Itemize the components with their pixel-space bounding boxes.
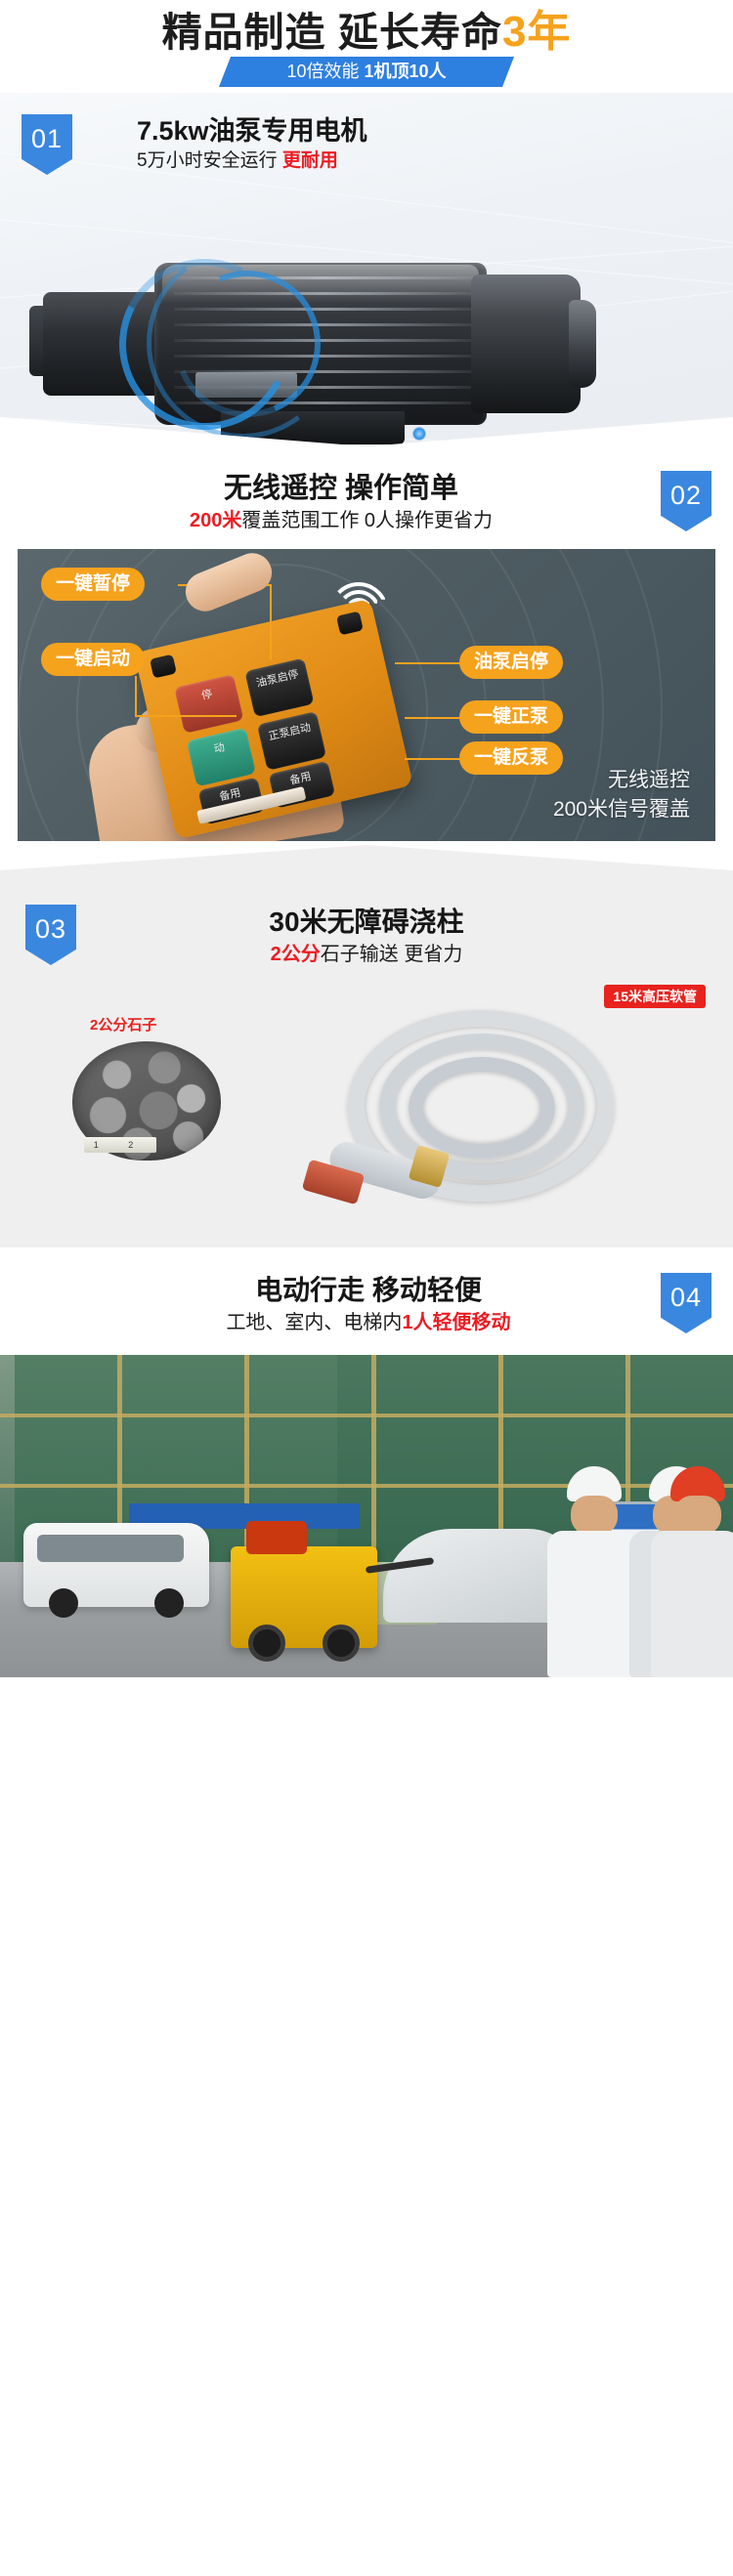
gravel-ruler: 1 2 xyxy=(84,1137,156,1153)
product-detail-page: 精品制造 延长寿命3年 10倍效能 1机顶10人 01 7.5kw油泵专用电机 … xyxy=(0,0,733,1677)
construction-site-photo xyxy=(0,1355,733,1677)
machine-hopper xyxy=(246,1521,307,1554)
section-04-header: 电动行走 移动轻便 工地、室内、电梯内1人轻便移动 04 xyxy=(0,1273,733,1337)
section-03-badge: 03 xyxy=(25,905,76,965)
white-van xyxy=(23,1523,209,1607)
remote-button-forward[interactable]: 正泵启动 xyxy=(257,711,326,771)
section-02-subtitle-plain: 覆盖范围工作 0人操作更省力 xyxy=(241,510,493,531)
section-03-text: 30米无障碍浇柱 2公分石子输送 更省力 xyxy=(76,905,657,969)
section-04-subtitle-plain: 工地、室内、电梯内 xyxy=(226,1312,402,1333)
section-02-header: 无线遥控 操作简单 200米覆盖范围工作 0人操作更省力 02 xyxy=(0,471,733,535)
callout-reverse-pump: 一键反泵 xyxy=(459,741,563,775)
section-01-badge: 01 xyxy=(22,114,72,175)
concrete-pump-machine xyxy=(231,1546,377,1648)
leader-line-start-h xyxy=(135,715,237,717)
remote-screw-left xyxy=(150,655,177,679)
callout-forward-pump: 一键正泵 xyxy=(459,700,563,734)
divider-notch-up xyxy=(0,841,733,870)
section-02-subtitle-highlight: 200米 xyxy=(190,510,241,531)
section-04-mobility: 电动行走 移动轻便 工地、室内、电梯内1人轻便移动 04 xyxy=(0,1247,733,1677)
section-03-subtitle-plain: 石子输送 更省力 xyxy=(321,944,463,965)
leader-line-pump xyxy=(395,662,461,664)
hero-ribbon: 10倍效能 1机顶10人 xyxy=(219,57,514,87)
leader-line-start xyxy=(135,676,137,717)
worker-center xyxy=(547,1466,641,1677)
leader-line-forward xyxy=(405,717,461,719)
section-04-subtitle: 工地、室内、电梯内1人轻便移动 xyxy=(76,1308,661,1337)
worker-head xyxy=(571,1496,618,1535)
van-wheel-rear xyxy=(154,1588,184,1618)
section-03-header: 03 30米无障碍浇柱 2公分石子输送 更省力 xyxy=(0,905,733,969)
section-02-badge: 02 xyxy=(661,471,711,531)
worker-far-right xyxy=(651,1466,733,1677)
page-title-main: 精品制造 延长寿命 xyxy=(162,10,502,55)
remote-button-pump-switch[interactable]: 油泵启停 xyxy=(244,657,314,717)
label-gravel-size: 2公分石子 xyxy=(90,1014,156,1035)
page-title-accent: 3年 xyxy=(502,8,571,56)
remote-caption-line-2: 200米信号覆盖 xyxy=(553,795,690,824)
section-01-text: 7.5kw油泵专用电机 5万小时安全运行 更耐用 xyxy=(137,114,367,174)
tag-high-pressure-hose: 15米高压软管 xyxy=(604,985,706,1008)
section-01-subtitle-plain: 5万小时安全运行 xyxy=(137,150,278,171)
callout-pump-switch: 油泵启停 xyxy=(459,646,563,679)
section-02-title: 无线遥控 操作简单 xyxy=(25,471,657,506)
section-04-text: 电动行走 移动轻便 工地、室内、电梯内1人轻便移动 xyxy=(76,1273,661,1337)
section-03-title: 30米无障碍浇柱 xyxy=(76,905,657,940)
page-title: 精品制造 延长寿命3年 xyxy=(0,8,733,57)
remote-caption-line-1: 无线遥控 xyxy=(553,766,690,795)
section-02-text: 无线遥控 操作简单 200米覆盖范围工作 0人操作更省力 xyxy=(25,471,657,535)
leader-line-reverse xyxy=(405,758,461,760)
section-04-badge: 04 xyxy=(661,1273,711,1333)
gravel-photo: 1 2 xyxy=(72,1041,221,1161)
hero-header: 精品制造 延长寿命3年 10倍效能 1机顶10人 xyxy=(0,0,733,93)
machine-wheel-left xyxy=(248,1625,285,1662)
hero-ribbon-text-b: 1机顶10人 xyxy=(365,62,447,81)
motor-photo xyxy=(0,208,733,449)
van-wheel-front xyxy=(49,1588,78,1618)
callout-pause: 一键暂停 xyxy=(41,568,145,601)
section-03-media: 15米高压软管 2公分石子 1 2 xyxy=(18,989,715,1218)
section-01-title: 7.5kw油泵专用电机 xyxy=(137,114,367,148)
section-02-remote: 无线遥控 操作简单 200米覆盖范围工作 0人操作更省力 02 xyxy=(0,449,733,842)
motor-led-glow xyxy=(412,427,426,441)
section-04-subtitle-highlight: 1人轻便移动 xyxy=(402,1312,510,1333)
remote-control-photo: 停 油泵启停 动 正泵启动 备用 备用 一键暂停 一键启动 油泵启停 一键正泵 xyxy=(18,549,715,842)
section-03-subtitle-highlight: 2公分 xyxy=(271,944,321,965)
hero-ribbon-text-a: 10倍效能 xyxy=(286,62,359,81)
van-window xyxy=(37,1535,184,1562)
section-02-subtitle: 200米覆盖范围工作 0人操作更省力 xyxy=(25,506,657,535)
section-01-motor: 01 7.5kw油泵专用电机 5万小时安全运行 更耐用 xyxy=(0,93,733,449)
divider-grey-gap xyxy=(0,842,733,899)
section-01-header: 01 7.5kw油泵专用电机 5万小时安全运行 更耐用 xyxy=(0,93,733,175)
section-04-title: 电动行走 移动轻便 xyxy=(76,1273,661,1308)
motor-fan-cover xyxy=(471,274,581,413)
remote-button-start[interactable]: 动 xyxy=(187,728,256,787)
machine-wheel-right xyxy=(323,1625,360,1662)
worker-head-3 xyxy=(674,1496,721,1535)
section-03-subtitle: 2公分石子输送 更省力 xyxy=(76,940,657,969)
worker-torso xyxy=(547,1531,637,1677)
worker-torso-3 xyxy=(651,1531,733,1677)
callout-start: 一键启动 xyxy=(41,643,145,676)
hose-photo xyxy=(287,1006,698,1209)
section-01-subtitle: 5万小时安全运行 更耐用 xyxy=(137,148,367,174)
leader-line-pause xyxy=(270,584,272,660)
hose-coil-inner xyxy=(409,1057,555,1159)
section-01-subtitle-highlight: 更耐用 xyxy=(282,150,338,171)
remote-button-stop[interactable]: 停 xyxy=(174,674,243,734)
section-03-hose: 03 30米无障碍浇柱 2公分石子输送 更省力 15米高压软管 2公分石子 1 … xyxy=(0,899,733,1247)
remote-screw-right xyxy=(336,612,364,636)
remote-caption: 无线遥控 200米信号覆盖 xyxy=(553,766,690,824)
